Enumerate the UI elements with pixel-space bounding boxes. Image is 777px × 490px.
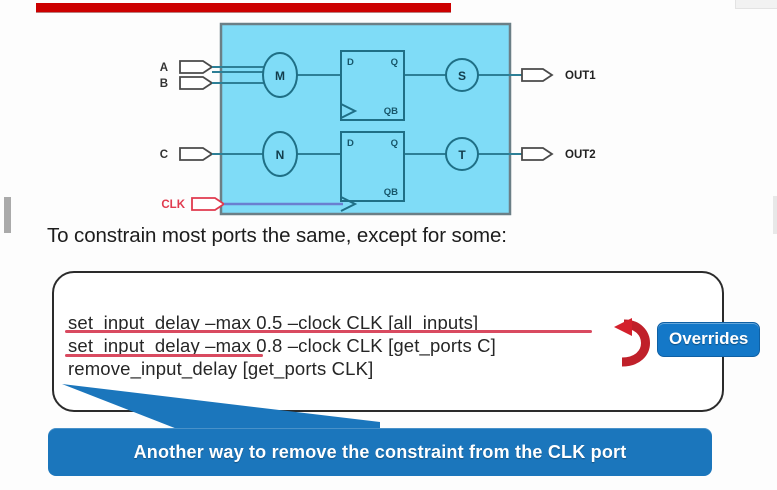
top-right-edge-strip	[735, 0, 777, 9]
ff-bottom-pin-Q: Q	[391, 138, 398, 149]
logic-node-S: S	[446, 59, 478, 91]
code-line-1: set_input_delay –max 0.5 –clock CLK [all…	[68, 311, 668, 334]
callout-banner-text: Another way to remove the constraint fro…	[48, 428, 712, 476]
callout-pointer-tail	[60, 382, 380, 434]
override-curved-arrow-icon	[612, 316, 658, 370]
svg-text:M: M	[275, 69, 285, 83]
page-title: To constrain most ports the same, except…	[47, 224, 507, 248]
ff-top-pin-QB: QB	[384, 106, 398, 117]
circuit-schematic: A B C CLK M N S T D Q QB D Q	[0, 14, 777, 224]
svg-text:T: T	[458, 148, 466, 162]
port-symbol-C	[180, 148, 212, 160]
logic-node-T: T	[446, 138, 478, 170]
svg-text:S: S	[458, 69, 466, 83]
input-label-C: C	[160, 149, 168, 161]
overrides-badge: Overrides	[657, 322, 760, 357]
input-label-CLK: CLK	[161, 199, 185, 211]
ff-bottom-pin-D: D	[347, 138, 354, 149]
code-block: set_input_delay –max 0.5 –clock CLK [all…	[68, 311, 668, 380]
output-label-OUT2: OUT2	[565, 149, 596, 161]
code-line-3-text: remove_input_delay [get_ports CLK]	[68, 358, 373, 379]
strikethrough-line-1	[65, 330, 592, 333]
flipflop-bottom: D Q QB	[341, 132, 404, 211]
input-label-A: A	[160, 62, 168, 74]
input-label-B: B	[160, 78, 168, 90]
code-line-2: set_input_delay –max 0.8 –clock CLK [get…	[68, 334, 668, 357]
code-line-3: remove_input_delay [get_ports CLK]	[68, 357, 668, 380]
ff-top-pin-Q: Q	[391, 57, 398, 68]
ff-bottom-pin-QB: QB	[384, 187, 398, 198]
port-symbol-A	[180, 61, 212, 73]
code-line-2-text: set_input_delay –max 0.8 –clock CLK [get…	[68, 335, 496, 356]
top-red-highlight-bar	[36, 3, 451, 12]
port-symbol-OUT1	[522, 69, 552, 81]
port-symbol-OUT2	[522, 148, 552, 160]
flipflop-top: D Q QB	[341, 51, 404, 120]
logic-node-N: N	[263, 132, 297, 176]
callout-banner: Another way to remove the constraint fro…	[48, 428, 712, 476]
port-symbol-CLK	[192, 198, 224, 210]
output-label-OUT1: OUT1	[565, 70, 596, 82]
port-symbol-B	[180, 77, 212, 89]
logic-node-M: M	[263, 53, 297, 97]
ff-top-pin-D: D	[347, 57, 354, 68]
svg-text:N: N	[276, 148, 285, 162]
